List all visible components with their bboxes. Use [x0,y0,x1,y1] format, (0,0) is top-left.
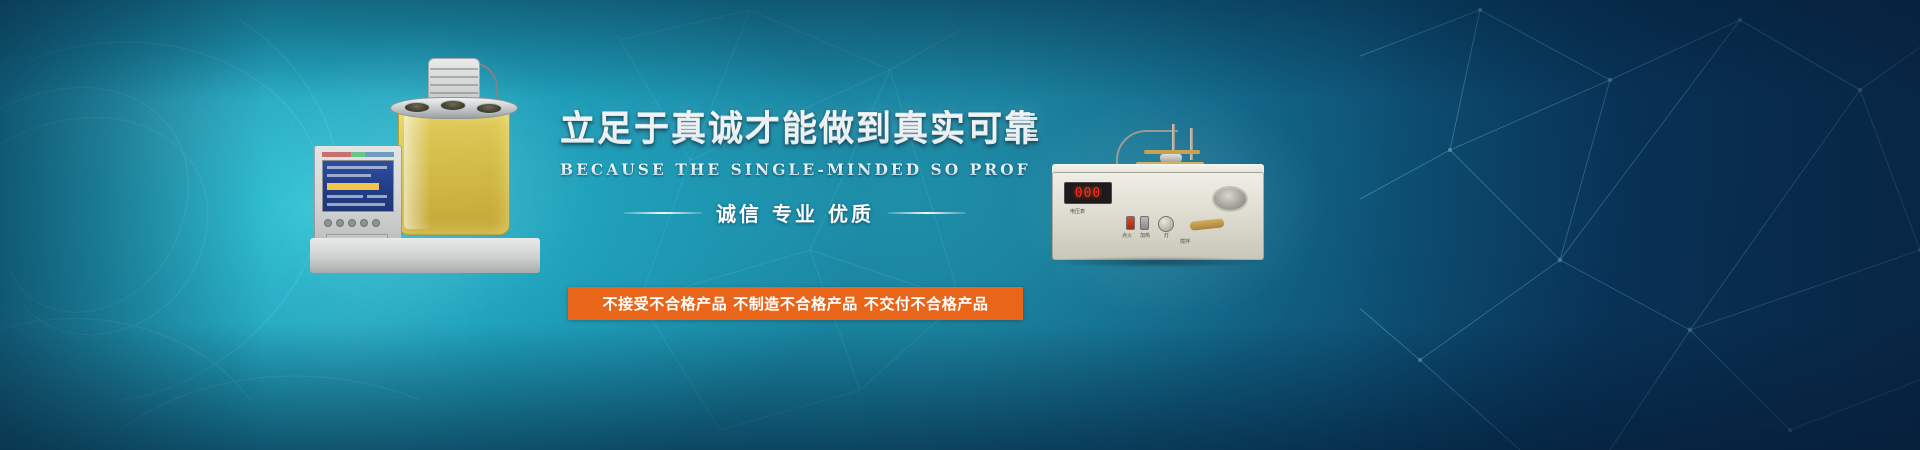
product-right-label-ignite: 加热 [1140,232,1150,239]
divider-rule-left [624,212,702,214]
product-right-sample-well [1212,186,1248,212]
product-right-shadow [1046,256,1268,268]
product-left-knob-row [324,218,392,228]
product-left-brand-strip [322,152,394,157]
product-right-dial-knob [1158,216,1174,232]
product-left-bath-port-2 [440,100,466,111]
product-left-lcd-screen [322,160,394,212]
product-right-label-voltage: 电压表 [1070,208,1085,215]
banner-keywords: 诚信 专业 优质 [716,198,874,227]
product-image-flash-point-tester: 000 电压表 点火 加热 灯 搅拌 [1040,120,1290,280]
product-left-bath-port-1 [404,102,430,113]
product-left-base-plate [310,238,540,273]
product-right-led-value: 000 [1075,186,1101,201]
product-right-switch-ignite [1126,216,1135,230]
banner-headline: 立足于真诚才能做到真实可靠 [560,110,1030,149]
product-right-led-display: 000 [1064,182,1112,204]
product-right-switch-heat [1140,216,1149,230]
promo-banner: 000 电压表 点火 加热 灯 搅拌 立足于真诚才能做到真实可靠 BECAUSE… [0,0,1920,450]
banner-copy: 立足于真诚才能做到真实可靠 BECAUSE THE SINGLE-MINDED … [560,110,1030,227]
quality-slogan-bar: 不接受不合格产品 不制造不合格产品 不交付不合格产品 [568,287,1023,320]
product-right-label-stir: 搅拌 [1180,238,1190,245]
product-right-stirrer-rod [1190,128,1193,160]
product-right-label-heat: 点火 [1122,232,1132,239]
divider-rule-right [888,212,966,214]
quality-slogan-text: 不接受不合格产品 不制造不合格产品 不交付不合格产品 [602,293,988,314]
product-image-viscometer [300,48,550,288]
product-left-bath-gloss [404,114,430,229]
product-right-label-lamp: 灯 [1164,232,1169,239]
product-left-bath-port-3 [476,103,502,114]
banner-subline-english: BECAUSE THE SINGLE-MINDED SO PROFESSIONA… [560,160,1030,179]
banner-keywords-row: 诚信 专业 优质 [560,198,1030,227]
